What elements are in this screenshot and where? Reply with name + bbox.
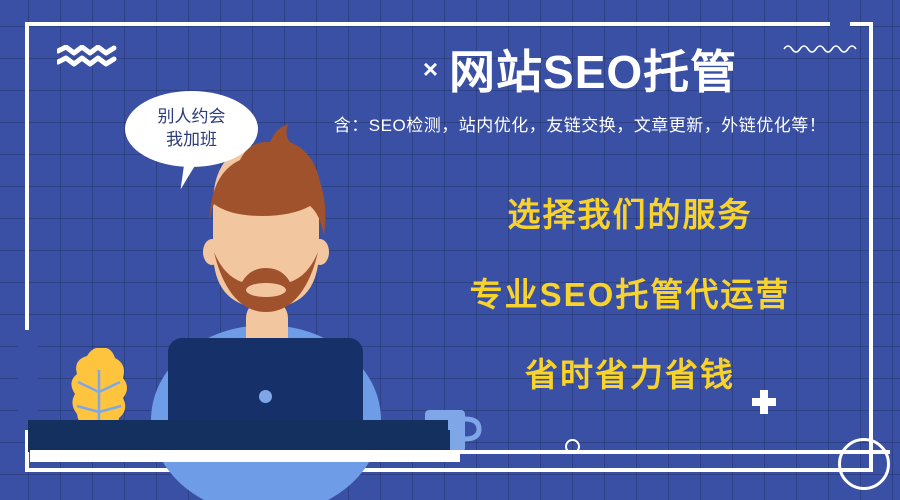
mug-handle — [465, 419, 479, 439]
desk-slab-lower — [90, 430, 450, 452]
speech-bubble-line-2: 我加班 — [166, 129, 217, 152]
character-mouth — [246, 283, 286, 297]
speech-bubble: 别人约会 我加班 — [125, 91, 258, 167]
seo-poster: ×网站SEO托管 含：SEO检测，站内优化，友链交换，文章更新，外链优化等！ 选… — [0, 0, 900, 500]
laptop-logo-icon — [259, 390, 272, 403]
speech-bubble-line-1: 别人约会 — [158, 106, 226, 129]
desk-front-edge — [30, 450, 460, 462]
